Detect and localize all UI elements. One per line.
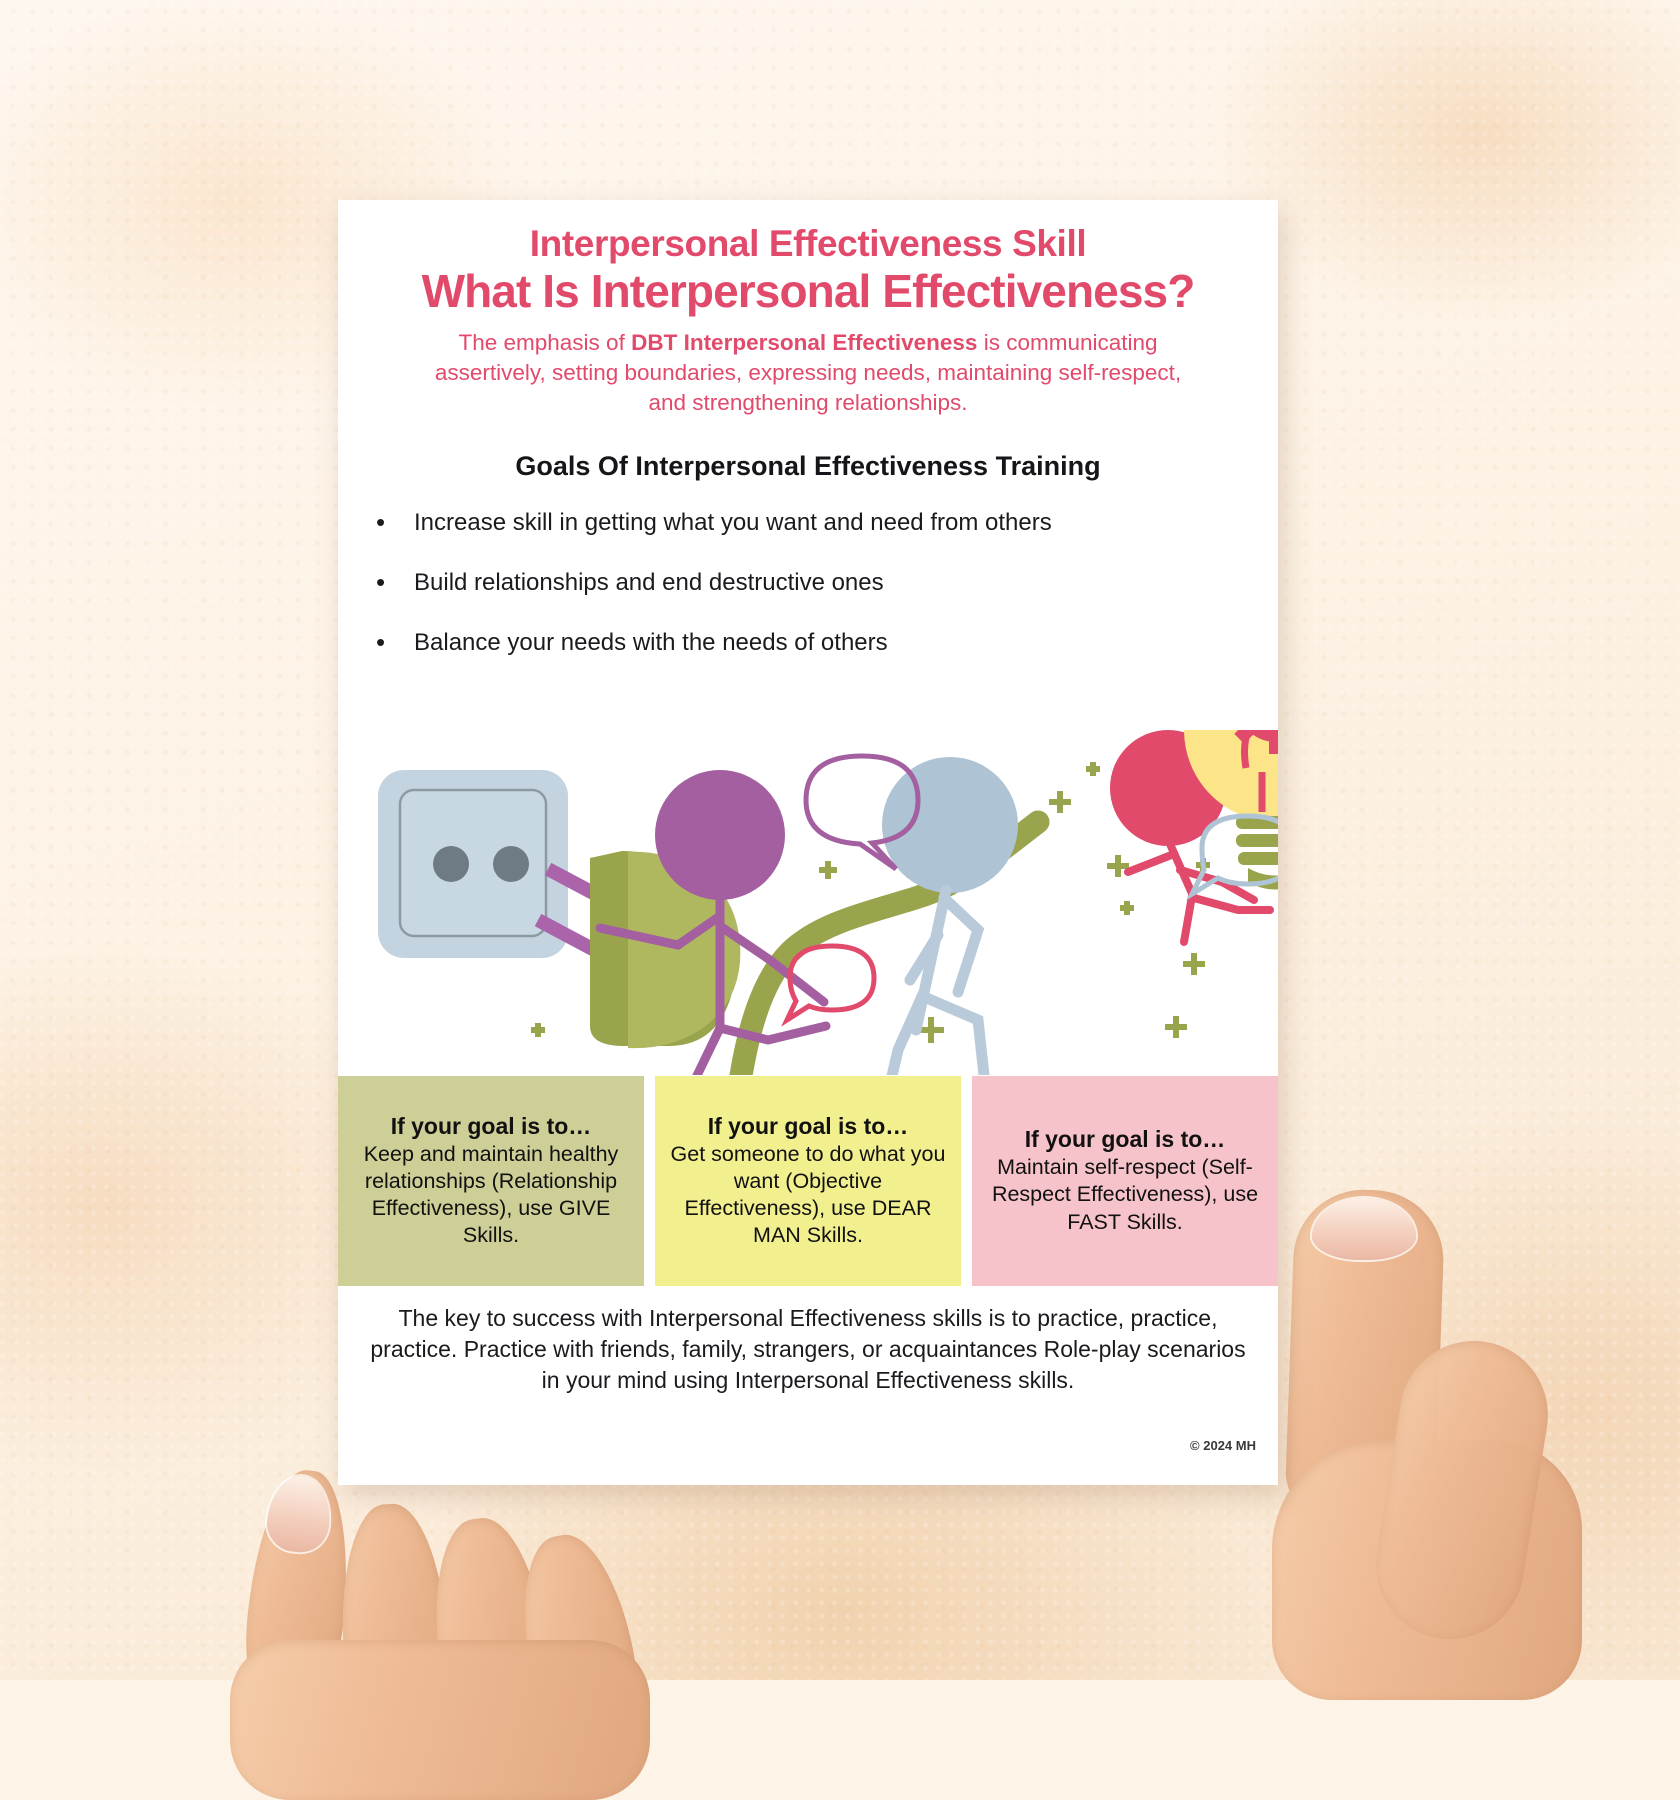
goal-box-body: Keep and maintain healthy relationships … xyxy=(348,1141,634,1249)
goals-list: Increase skill in getting what you want … xyxy=(338,508,1278,657)
goal-item: Build relationships and end destructive … xyxy=(372,568,1054,598)
illustration xyxy=(338,730,1278,1075)
wall-socket-icon xyxy=(378,770,568,958)
page-title-line2: What Is Interpersonal Effectiveness? xyxy=(364,267,1252,317)
goal-box-body: Maintain self-respect (Self-Respect Effe… xyxy=(982,1154,1268,1235)
goal-item: Increase skill in getting what you want … xyxy=(372,508,1054,538)
copyright-notice: © 2024 MH xyxy=(1190,1438,1256,1453)
goal-box-heading: If your goal is to… xyxy=(1025,1126,1226,1153)
goal-item: Balance your needs with the needs of oth… xyxy=(372,628,1054,658)
worksheet-paper: Interpersonal Effectiveness Skill What I… xyxy=(338,200,1278,1485)
goal-box-relationship-effectiveness[interactable]: If your goal is to… Keep and maintain he… xyxy=(338,1076,644,1286)
page-title-line1: Interpersonal Effectiveness Skill xyxy=(364,224,1252,265)
goal-box-heading: If your goal is to… xyxy=(708,1113,909,1140)
intro-paragraph: The emphasis of DBT Interpersonal Effect… xyxy=(413,328,1203,417)
blue-stick-figure xyxy=(882,757,1018,1075)
footer-paragraph: The key to success with Interpersonal Ef… xyxy=(338,1303,1278,1396)
goal-box-body: Get someone to do what you want (Objecti… xyxy=(665,1141,951,1249)
goal-boxes: If your goal is to… Keep and maintain he… xyxy=(338,1076,1278,1286)
goals-heading: Goals Of Interpersonal Effectiveness Tra… xyxy=(338,451,1278,482)
intro-prefix: The emphasis of xyxy=(458,330,631,355)
title-block: Interpersonal Effectiveness Skill What I… xyxy=(338,200,1278,417)
goal-box-heading: If your goal is to… xyxy=(391,1113,592,1140)
goal-box-self-respect-effectiveness[interactable]: If your goal is to… Maintain self-respec… xyxy=(972,1076,1278,1286)
goal-box-objective-effectiveness[interactable]: If your goal is to… Get someone to do wh… xyxy=(655,1076,961,1286)
intro-bold-term: DBT Interpersonal Effectiveness xyxy=(631,330,977,355)
